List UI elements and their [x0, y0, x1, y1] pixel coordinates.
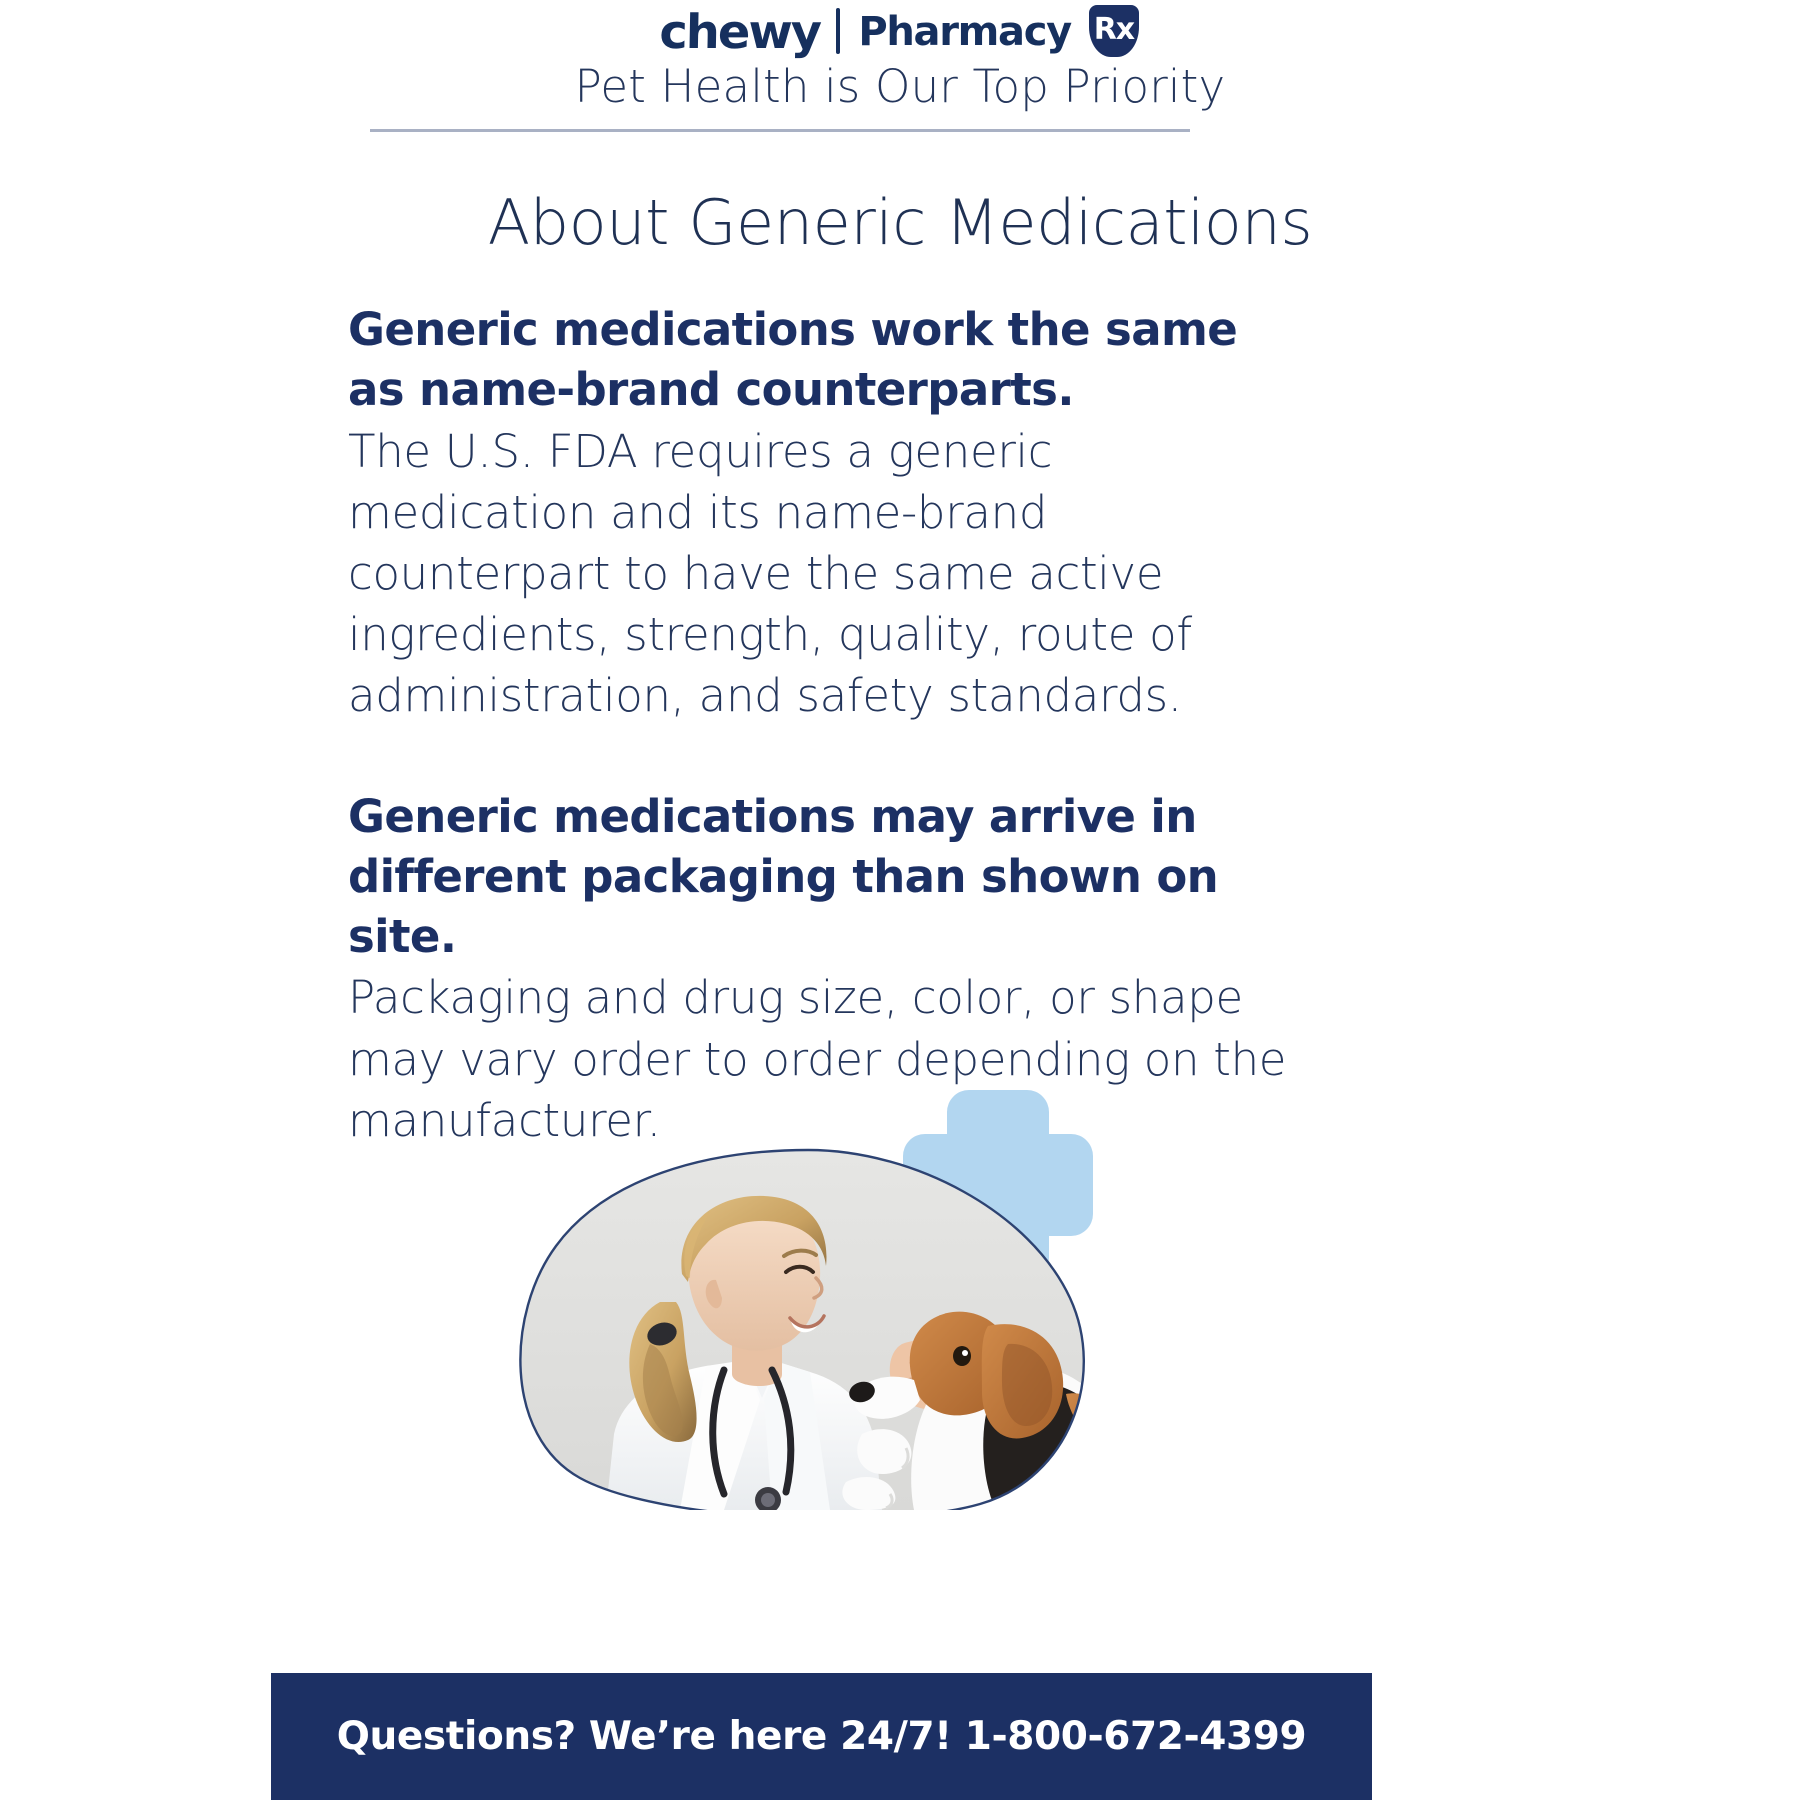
info-section-generic-equivalence: Generic medications work the same as nam…	[348, 300, 1308, 727]
brand-tagline: Pet Health is Our Top Priority	[0, 60, 1800, 113]
support-phone-text: Questions? We’re here 24/7! 1-800-672-43…	[337, 1714, 1306, 1759]
chewy-logo-wordmark: chewy	[659, 9, 820, 56]
brand-divider	[836, 8, 840, 54]
rx-shield-icon: Rx	[1089, 5, 1139, 57]
header-divider-rule	[370, 129, 1190, 132]
rx-shield-label: Rx	[1094, 15, 1134, 45]
section-body: The U.S. FDA requires a generic medicati…	[348, 421, 1278, 727]
section-heading: Generic medications work the same as nam…	[348, 300, 1253, 421]
section-heading: Generic medications may arrive in differ…	[348, 787, 1283, 968]
pharmacy-wordmark: Pharmacy	[858, 12, 1071, 52]
hero-artwork	[500, 1090, 1120, 1510]
brand-header: chewy Pharmacy Rx	[0, 0, 1800, 60]
veterinarian-and-beagle-photo	[510, 1148, 1102, 1510]
body-copy: Generic medications work the same as nam…	[348, 300, 1308, 1151]
page-title: About Generic Medications	[0, 186, 1800, 259]
support-footer-bar: Questions? We’re here 24/7! 1-800-672-43…	[271, 1673, 1372, 1800]
